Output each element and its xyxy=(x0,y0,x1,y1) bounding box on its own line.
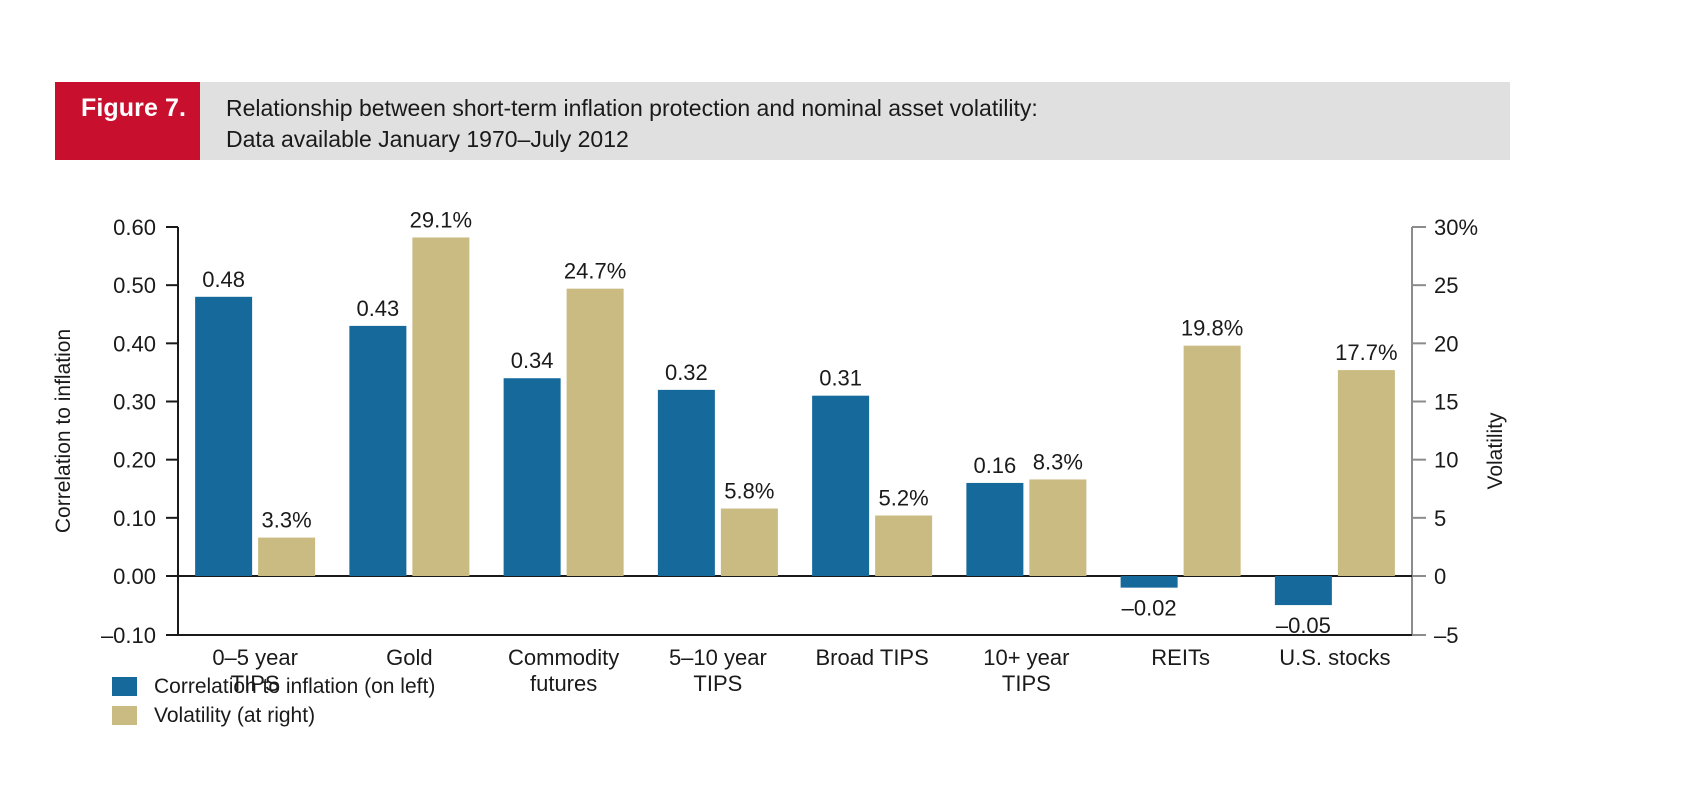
y-axis-left-tick-label: 0.20 xyxy=(113,448,156,473)
bar-correlation xyxy=(1121,576,1178,588)
bar-value-label-volatility: 5.2% xyxy=(879,486,929,511)
x-axis-category-label: 10+ year xyxy=(983,645,1069,670)
bar-correlation xyxy=(966,483,1023,576)
bar-volatility xyxy=(412,237,469,576)
bar-correlation xyxy=(658,390,715,576)
y-axis-right-tick-label: 0 xyxy=(1434,564,1446,589)
bar-value-label-volatility: 29.1% xyxy=(410,207,472,232)
y-axis-right-tick-label: 10 xyxy=(1434,448,1458,473)
bar-volatility xyxy=(875,516,932,576)
bar-volatility xyxy=(1338,370,1395,576)
bar-volatility xyxy=(567,289,624,576)
y-axis-right-tick-label: –5 xyxy=(1434,623,1458,648)
y-axis-left-tick-label: 0.40 xyxy=(113,331,156,356)
bar-value-label-volatility: 24.7% xyxy=(564,259,626,284)
x-axis-category-label: U.S. stocks xyxy=(1279,645,1390,670)
bar-value-label-correlation: 0.32 xyxy=(665,360,708,385)
y-axis-right-tick-label: 15 xyxy=(1434,390,1458,415)
bar-correlation xyxy=(812,396,869,576)
x-axis-category-label: Broad TIPS xyxy=(815,645,928,670)
bar-value-label-volatility: 5.8% xyxy=(724,479,774,504)
y-axis-right-tick-label: 5 xyxy=(1434,506,1446,531)
x-axis-category-label: Gold xyxy=(386,645,432,670)
y-axis-left-tick-label: 0.60 xyxy=(113,215,156,240)
bar-value-label-volatility: 19.8% xyxy=(1181,316,1243,341)
bar-volatility xyxy=(1029,479,1086,576)
x-axis-category-label: 5–10 year xyxy=(669,645,767,670)
x-axis-category-label: Commodity xyxy=(508,645,619,670)
y-axis-left-title: Correlation to inflation xyxy=(52,329,75,533)
bar-value-label-correlation: –0.05 xyxy=(1276,613,1331,638)
x-axis-category-label: REITs xyxy=(1151,645,1210,670)
y-axis-left-tick-label: 0.10 xyxy=(113,506,156,531)
y-axis-left-tick-label: –0.10 xyxy=(101,623,156,648)
chart-legend: Correlation to inflation (on left) Volat… xyxy=(112,672,435,730)
bar-value-label-volatility: 3.3% xyxy=(262,508,312,533)
bar-value-label-correlation: 0.16 xyxy=(973,453,1016,478)
bar-correlation xyxy=(504,378,561,576)
x-axis-category-label: TIPS xyxy=(1002,671,1051,696)
bar-value-label-correlation: 0.34 xyxy=(511,348,554,373)
legend-label-volatility: Volatility (at right) xyxy=(154,704,315,728)
legend-swatch-correlation xyxy=(112,677,137,696)
bar-value-label-volatility: 8.3% xyxy=(1033,449,1083,474)
y-axis-left-tick-label: 0.50 xyxy=(113,273,156,298)
bar-value-label-correlation: 0.31 xyxy=(819,366,862,391)
y-axis-left-tick-label: 0.00 xyxy=(113,564,156,589)
y-axis-right-tick-label: 30% xyxy=(1434,215,1478,240)
bar-correlation xyxy=(349,326,406,576)
bar-value-label-correlation: 0.43 xyxy=(356,296,399,321)
x-axis-category-label: futures xyxy=(530,671,597,696)
y-axis-right-tick-label: 20 xyxy=(1434,331,1458,356)
y-axis-right-title: Volatility xyxy=(1484,412,1507,490)
bar-value-label-correlation: 0.48 xyxy=(202,267,245,292)
legend-item-correlation: Correlation to inflation (on left) xyxy=(112,672,435,701)
bar-value-label-correlation: –0.02 xyxy=(1122,596,1177,621)
bar-volatility xyxy=(258,538,315,576)
bar-volatility xyxy=(721,509,778,576)
bar-correlation xyxy=(1275,576,1332,605)
bar-correlation xyxy=(195,297,252,576)
y-axis-left-tick-label: 0.30 xyxy=(113,390,156,415)
bar-volatility xyxy=(1184,346,1241,576)
legend-swatch-volatility xyxy=(112,706,137,725)
legend-item-volatility: Volatility (at right) xyxy=(112,701,435,730)
x-axis-category-label: TIPS xyxy=(693,671,742,696)
legend-label-correlation: Correlation to inflation (on left) xyxy=(154,675,435,699)
x-axis-category-label: 0–5 year xyxy=(212,645,298,670)
y-axis-right-tick-label: 25 xyxy=(1434,273,1458,298)
bar-value-label-volatility: 17.7% xyxy=(1335,340,1397,365)
